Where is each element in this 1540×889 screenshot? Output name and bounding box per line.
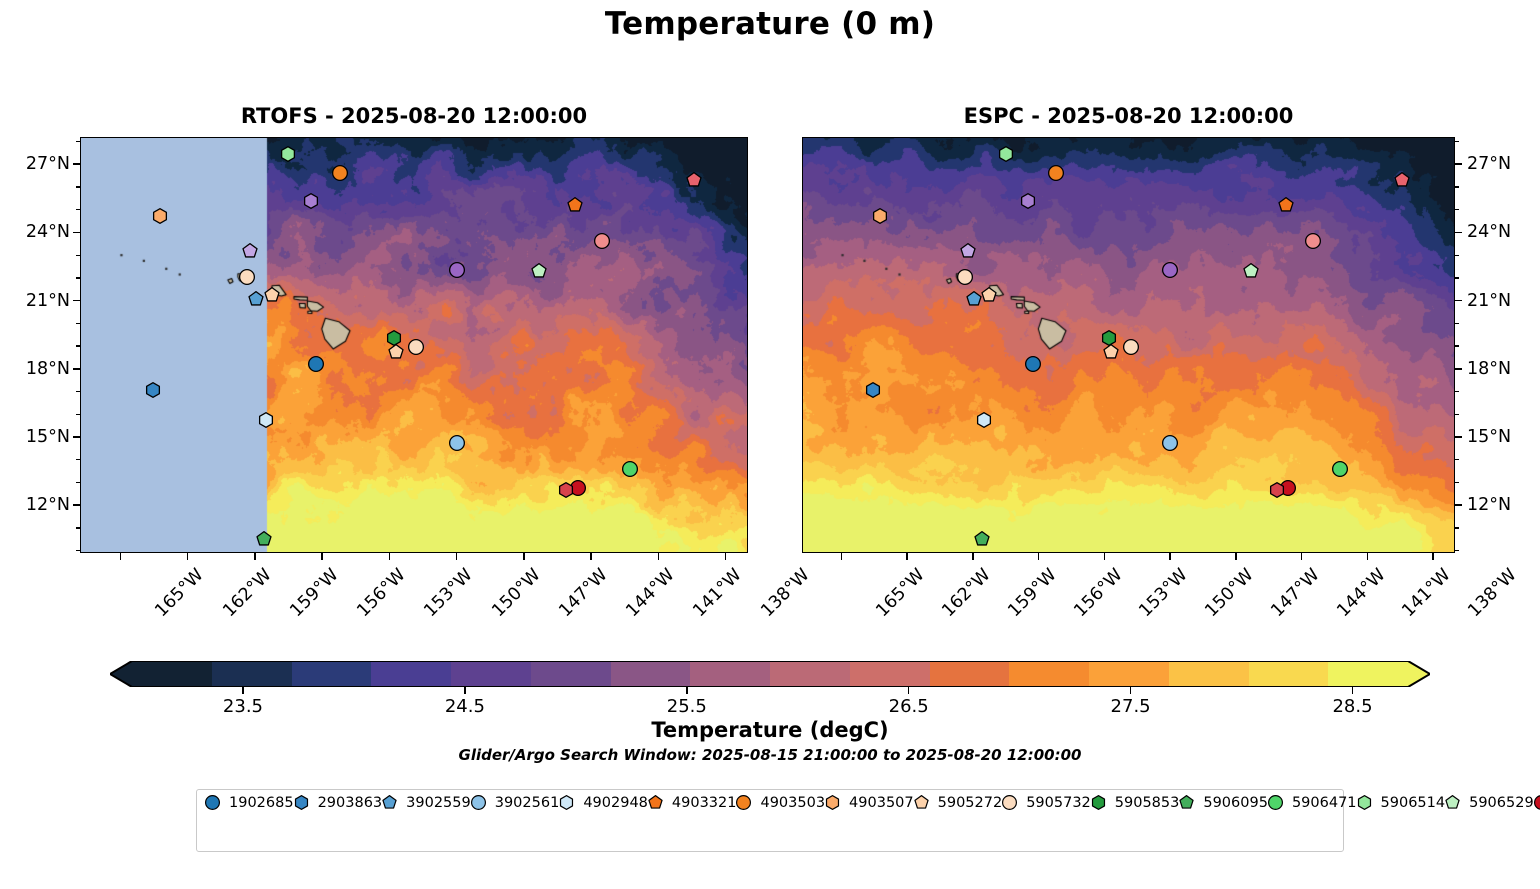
y-tick (1455, 300, 1462, 302)
legend-item-label: 4903321 (672, 795, 737, 811)
y-tick-label: 15°N (0, 427, 70, 447)
legend-item-label: 5906095 (1203, 795, 1268, 811)
y-tick (73, 504, 80, 506)
y-tick-label: 18°N (1467, 359, 1511, 379)
legend-marker-icon (559, 795, 576, 812)
colorbar-axis-label: Temperature (degC) (0, 718, 1540, 742)
colorbar-tick-label: 24.5 (445, 696, 485, 717)
argo-float-marker[interactable] (1278, 197, 1294, 213)
y-tick-label: 18°N (0, 359, 70, 379)
x-tick-label: 159°W (286, 565, 342, 621)
y-tick-label: 12°N (1467, 495, 1511, 515)
y-tick (1455, 232, 1462, 234)
colorbar-tick-label: 25.5 (667, 696, 707, 717)
y-tick (1455, 436, 1462, 438)
y-tick (73, 163, 80, 165)
argo-float-marker[interactable] (567, 197, 583, 213)
y-tick-minor (1455, 391, 1459, 392)
argo-float-marker[interactable] (388, 344, 404, 360)
legend-item[interactable]: 4903321 (648, 795, 737, 812)
panel-rtofs-title: RTOFS - 2025-08-20 12:00:00 (80, 104, 748, 128)
legend-item[interactable]: 5906529 (1445, 795, 1534, 812)
y-tick-label: 27°N (0, 154, 70, 174)
legend-item[interactable]: 1902685 (205, 795, 294, 812)
y-tick-minor (1455, 459, 1459, 460)
x-tick (1432, 553, 1434, 560)
legend-marker-icon (1357, 795, 1374, 812)
panel-espc-title: ESPC - 2025-08-20 12:00:00 (802, 104, 1455, 128)
x-tick-label: 165°W (873, 565, 929, 621)
argo-float-marker[interactable] (531, 263, 547, 279)
colorbar-segment (292, 661, 372, 687)
y-tick-minor (76, 345, 80, 346)
x-tick-label: 138°W (757, 565, 813, 621)
legend-marker-icon (1091, 795, 1108, 812)
argo-float-marker[interactable] (594, 233, 610, 249)
y-tick-minor (1455, 482, 1459, 483)
y-tick-minor (1455, 209, 1459, 210)
legend-item-label: 3902561 (495, 795, 560, 811)
y-tick-label: 24°N (1467, 222, 1511, 242)
colorbar-segment (611, 661, 691, 687)
colorbar-segment (850, 661, 930, 687)
map-espc[interactable] (802, 137, 1455, 553)
argo-float-marker[interactable] (1162, 435, 1178, 451)
legend-marker-icon (648, 795, 665, 812)
y-tick-label: 15°N (1467, 427, 1511, 447)
y-tick-label: 21°N (0, 291, 70, 311)
legend-item[interactable]: 5906753 (1534, 795, 1540, 812)
argo-float-marker[interactable] (449, 435, 465, 451)
legend-item-label: 4903507 (849, 795, 914, 811)
argo-float-marker[interactable] (1025, 356, 1041, 372)
x-tick-label: 150°W (1202, 565, 1258, 621)
x-tick (1367, 553, 1369, 560)
y-tick-label: 21°N (1467, 291, 1511, 311)
y-tick (73, 368, 80, 370)
legend-item-label: 3902559 (406, 795, 471, 811)
legend-item-label: 1902685 (229, 795, 294, 811)
colorbar: 23.524.525.526.527.528.5 (110, 661, 1430, 687)
y-tick-minor (1455, 277, 1459, 278)
legend-item[interactable]: 5906514 (1357, 795, 1446, 812)
x-tick (1235, 553, 1237, 560)
x-tick (523, 553, 525, 560)
argo-float-marker[interactable] (1123, 339, 1139, 355)
x-tick-label: 147°W (555, 565, 611, 621)
colorbar-segment (690, 661, 770, 687)
argo-float-marker[interactable] (303, 193, 319, 209)
y-tick-minor (76, 391, 80, 392)
y-tick-minor (1455, 323, 1459, 324)
argo-float-marker[interactable] (242, 243, 258, 259)
y-tick-label: 12°N (0, 495, 70, 515)
page-title: Temperature (0 m) (0, 6, 1540, 42)
y-tick (73, 436, 80, 438)
colorbar-tick-label: 26.5 (889, 696, 929, 717)
argo-float-legend[interactable]: 1902685290386339025593902561490294849033… (196, 789, 1344, 852)
x-tick (321, 553, 323, 560)
argo-float-marker[interactable] (960, 243, 976, 259)
x-tick (906, 553, 908, 560)
colorbar-segment (930, 661, 1010, 687)
legend-marker-icon (471, 795, 488, 812)
legend-marker-icon (382, 795, 399, 812)
panel-rtofs: RTOFS - 2025-08-20 12:00:00 165°W162°W15… (80, 137, 748, 553)
colorbar-segment (531, 661, 611, 687)
x-tick (658, 553, 660, 560)
legend-item[interactable]: 5905853 (1091, 795, 1180, 812)
argo-float-marker[interactable] (1305, 233, 1321, 249)
legend-item-label: 5906471 (1292, 795, 1357, 811)
legend-item[interactable]: 5905732 (1002, 795, 1091, 812)
colorbar-gradient (132, 661, 1408, 687)
y-tick-minor (76, 186, 80, 187)
argo-float-marker[interactable] (308, 356, 324, 372)
argo-float-marker[interactable] (239, 269, 255, 285)
x-tick-label: 153°W (1136, 565, 1192, 621)
argo-float-marker[interactable] (258, 412, 274, 428)
legend-item-label: 5906514 (1381, 795, 1446, 811)
y-tick-minor (1455, 550, 1459, 551)
argo-float-marker[interactable] (248, 291, 264, 307)
x-tick (725, 553, 727, 560)
y-tick-minor (1455, 141, 1459, 142)
x-tick-label: 141°W (690, 565, 746, 621)
argo-float-marker[interactable] (686, 172, 702, 188)
colorbar-tick (242, 687, 244, 694)
colorbar-segment (770, 661, 850, 687)
legend-item[interactable]: 4903503 (736, 795, 825, 812)
legend-marker-icon (1445, 795, 1462, 812)
x-tick-label: 144°W (622, 565, 678, 621)
argo-float-marker[interactable] (558, 482, 574, 498)
x-tick-label: 144°W (1333, 565, 1389, 621)
legend-marker-icon (294, 795, 311, 812)
colorbar-segment (1169, 661, 1249, 687)
x-tick-label: 156°W (354, 565, 410, 621)
argo-float-marker[interactable] (966, 291, 982, 307)
panel-espc: ESPC - 2025-08-20 12:00:00 165°W162°W159… (802, 137, 1455, 553)
legend-item[interactable]: 3902559 (382, 795, 471, 812)
argo-float-marker[interactable] (865, 382, 881, 398)
colorbar-tick-label: 27.5 (1111, 696, 1151, 717)
legend-item-label: 5905272 (938, 795, 1003, 811)
y-tick-minor (76, 323, 80, 324)
legend-marker-icon (825, 795, 842, 812)
legend-marker-icon (736, 795, 753, 812)
y-tick-minor (76, 459, 80, 460)
colorbar-tick (686, 687, 688, 694)
argo-float-marker[interactable] (1020, 193, 1036, 209)
argo-float-marker[interactable] (976, 412, 992, 428)
y-tick-label: 24°N (0, 222, 70, 242)
y-tick (1455, 163, 1462, 165)
colorbar-segment (1009, 661, 1089, 687)
x-tick (254, 553, 256, 560)
colorbar-extend-max-icon (1407, 661, 1430, 687)
legend-item-label: 5905853 (1115, 795, 1180, 811)
legend-item[interactable]: 5905272 (914, 795, 1003, 812)
x-tick (187, 553, 189, 560)
colorbar-tick-label: 23.5 (223, 696, 263, 717)
legend-marker-icon (1179, 795, 1196, 812)
search-window-caption: Glider/Argo Search Window: 2025-08-15 21… (0, 746, 1540, 764)
y-tick (1455, 368, 1462, 370)
map-rtofs[interactable] (80, 137, 748, 553)
y-tick-minor (76, 527, 80, 528)
x-tick (841, 553, 843, 560)
legend-item-label: 4902948 (583, 795, 648, 811)
colorbar-segment (1249, 661, 1329, 687)
legend-item[interactable]: 4902948 (559, 795, 648, 812)
x-tick (120, 553, 122, 560)
colorbar-segment (1089, 661, 1169, 687)
y-tick-label: 27°N (1467, 154, 1511, 174)
legend-item-label: 5906529 (1469, 795, 1534, 811)
y-tick-minor (1455, 345, 1459, 346)
argo-float-marker[interactable] (1269, 482, 1285, 498)
x-tick-label: 150°W (488, 565, 544, 621)
y-tick-minor (76, 482, 80, 483)
legend-item-label: 5905732 (1026, 795, 1091, 811)
legend-marker-icon (1534, 795, 1540, 812)
figure-root: Temperature (0 m) RTOFS - 2025-08-20 12:… (0, 0, 1540, 889)
x-tick-label: 147°W (1267, 565, 1323, 621)
colorbar-segment (1328, 661, 1408, 687)
legend-item-label: 2903863 (318, 795, 383, 811)
x-tick-label: 141°W (1399, 565, 1455, 621)
colorbar-tick (464, 687, 466, 694)
x-tick (389, 553, 391, 560)
x-tick (590, 553, 592, 560)
x-tick-label: 165°W (152, 565, 208, 621)
argo-float-marker[interactable] (998, 146, 1014, 162)
legend-marker-icon (914, 795, 931, 812)
colorbar-tick (1352, 687, 1354, 694)
colorbar-segment (132, 661, 212, 687)
argo-float-marker[interactable] (622, 461, 638, 477)
legend-marker-icon (1268, 795, 1285, 812)
x-tick-label: 153°W (421, 565, 477, 621)
argo-float-marker[interactable] (1048, 165, 1064, 181)
legend-item-label: 4903503 (760, 795, 825, 811)
argo-float-marker[interactable] (332, 165, 348, 181)
x-tick-label: 159°W (1004, 565, 1060, 621)
legend-marker-icon (1002, 795, 1019, 812)
x-tick (1169, 553, 1171, 560)
x-tick (456, 553, 458, 560)
x-tick (1038, 553, 1040, 560)
colorbar-extend-min-icon (110, 661, 133, 687)
x-tick (1104, 553, 1106, 560)
x-tick-label: 162°W (219, 565, 275, 621)
legend-item[interactable]: 2903863 (294, 795, 383, 812)
y-tick-minor (76, 550, 80, 551)
legend-item[interactable]: 4903507 (825, 795, 914, 812)
argo-float-marker[interactable] (408, 339, 424, 355)
y-tick-minor (76, 141, 80, 142)
argo-float-marker[interactable] (1243, 263, 1259, 279)
colorbar-tick (908, 687, 910, 694)
argo-float-marker[interactable] (1103, 344, 1119, 360)
y-tick-minor (76, 414, 80, 415)
x-tick (1301, 553, 1303, 560)
argo-float-marker[interactable] (1332, 461, 1348, 477)
argo-float-marker[interactable] (256, 531, 272, 547)
argo-float-marker[interactable] (280, 146, 296, 162)
colorbar-segment (212, 661, 292, 687)
y-tick-minor (1455, 186, 1459, 187)
argo-float-marker[interactable] (145, 382, 161, 398)
x-tick-label: 162°W (939, 565, 995, 621)
y-tick-minor (1455, 527, 1459, 528)
colorbar-tick-label: 28.5 (1332, 696, 1372, 717)
y-tick-minor (1455, 255, 1459, 256)
argo-float-marker[interactable] (1162, 262, 1178, 278)
argo-float-marker[interactable] (1394, 172, 1410, 188)
y-tick-minor (76, 209, 80, 210)
argo-float-marker[interactable] (974, 531, 990, 547)
colorbar-segment (451, 661, 531, 687)
y-tick-minor (1455, 414, 1459, 415)
y-tick (1455, 504, 1462, 506)
legend-item[interactable]: 5906095 (1179, 795, 1268, 812)
y-tick-minor (76, 277, 80, 278)
y-tick (73, 300, 80, 302)
argo-float-marker[interactable] (264, 287, 280, 303)
argo-float-marker[interactable] (872, 208, 888, 224)
argo-float-marker[interactable] (981, 287, 997, 303)
y-tick (73, 232, 80, 234)
y-tick-minor (76, 255, 80, 256)
x-tick-label: 156°W (1070, 565, 1126, 621)
argo-float-marker[interactable] (152, 208, 168, 224)
argo-float-marker[interactable] (449, 262, 465, 278)
legend-item[interactable]: 3902561 (471, 795, 560, 812)
argo-float-marker[interactable] (957, 269, 973, 285)
legend-item[interactable]: 5906471 (1268, 795, 1357, 812)
x-tick (972, 553, 974, 560)
colorbar-segment (371, 661, 451, 687)
colorbar-tick (1130, 687, 1132, 694)
legend-marker-icon (205, 795, 222, 812)
x-tick-label: 138°W (1464, 565, 1520, 621)
